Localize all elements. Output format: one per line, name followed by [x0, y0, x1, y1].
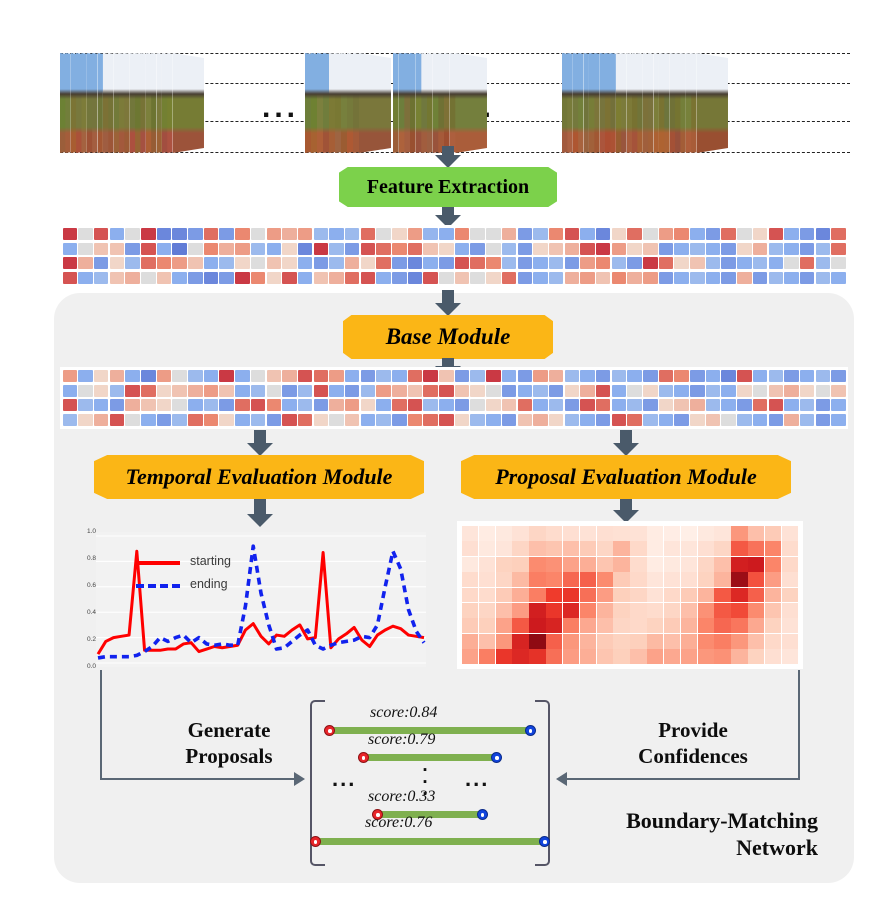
- feature-cell: [596, 228, 611, 240]
- feature-cell: [267, 370, 282, 382]
- heatmap-cell: [512, 618, 528, 633]
- proposal-evaluation-module-box[interactable]: Proposal Evaluation Module: [461, 455, 791, 499]
- feature-cell: [502, 257, 517, 269]
- feature-extraction-box[interactable]: Feature Extraction: [339, 167, 557, 207]
- feature-cell: [470, 228, 485, 240]
- feature-cell: [110, 385, 125, 397]
- boundary-chart-svg: [96, 532, 426, 667]
- heatmap-cell: [479, 541, 495, 556]
- input-video-clips: ... ... ...: [60, 45, 850, 160]
- feature-cell: [78, 257, 93, 269]
- feature-cell: [188, 370, 203, 382]
- feature-cell: [706, 399, 721, 411]
- feature-cell: [314, 414, 329, 426]
- feature-cell: [423, 385, 438, 397]
- feature-cell: [439, 272, 454, 284]
- heatmap-cell: [731, 603, 747, 618]
- feature-cell: [800, 243, 815, 255]
- arrow-featuremap-to-base-module: [435, 290, 461, 316]
- feature-cell: [141, 228, 156, 240]
- heatmap-cell: [647, 618, 663, 633]
- heatmap-cell: [496, 526, 512, 541]
- feature-cell: [376, 370, 391, 382]
- heatmap-cell: [613, 526, 629, 541]
- video-frame: [697, 53, 728, 153]
- heatmap-cell: [462, 541, 478, 556]
- feature-cell: [753, 257, 768, 269]
- heatmap-cell: [630, 618, 646, 633]
- heatmap-cell: [647, 634, 663, 649]
- feature-cell: [643, 414, 658, 426]
- feature-cell: [94, 243, 109, 255]
- feature-cell: [518, 385, 533, 397]
- heatmap-cell: [681, 649, 697, 664]
- feature-cell: [502, 385, 517, 397]
- feature-cell: [816, 243, 831, 255]
- feature-cell: [78, 399, 93, 411]
- feature-cell: [831, 385, 846, 397]
- legend-starting-swatch: [136, 561, 180, 565]
- proposal-end-dot-icon[interactable]: [539, 836, 550, 847]
- heatmap-cell: [782, 603, 798, 618]
- feature-cell: [486, 272, 501, 284]
- y-axis-tick: 0.0: [87, 664, 96, 671]
- feature-cell: [721, 385, 736, 397]
- feature-cell: [769, 272, 784, 284]
- feature-cell: [737, 414, 752, 426]
- feature-cell: [831, 370, 846, 382]
- heatmap-cell: [580, 634, 596, 649]
- connector-generate-proposals-arrowhead: [294, 772, 305, 786]
- feature-cell: [63, 228, 78, 240]
- feature-cell: [627, 257, 642, 269]
- proposal-end-dot-icon[interactable]: [525, 725, 536, 736]
- feature-cell: [533, 243, 548, 255]
- heatmap-cell: [714, 634, 730, 649]
- heatmap-cell: [479, 649, 495, 664]
- feature-cell: [800, 272, 815, 284]
- feature-cell: [580, 385, 595, 397]
- feature-cell: [706, 385, 721, 397]
- feature-cell: [141, 243, 156, 255]
- feature-cell: [612, 257, 627, 269]
- feature-cell: [408, 272, 423, 284]
- feature-cell: [831, 257, 846, 269]
- heatmap-cell: [765, 572, 781, 587]
- feature-cell: [596, 257, 611, 269]
- heatmap-cell: [597, 588, 613, 603]
- feature-cell: [470, 243, 485, 255]
- heatmap-cell: [613, 618, 629, 633]
- feature-cell: [549, 399, 564, 411]
- feature-cell: [486, 414, 501, 426]
- feature-cell: [612, 414, 627, 426]
- feature-cell: [784, 257, 799, 269]
- proposal-start-dot-icon[interactable]: [358, 752, 369, 763]
- proposal-score-4: score:0.76: [365, 814, 432, 832]
- feature-cell: [784, 272, 799, 284]
- feature-cell: [204, 257, 219, 269]
- feature-cell: [125, 228, 140, 240]
- feature-cell: [784, 243, 799, 255]
- feature-cell: [470, 414, 485, 426]
- feature-cell: [502, 228, 517, 240]
- feature-cell: [455, 228, 470, 240]
- feature-cell: [125, 399, 140, 411]
- heatmap-cell: [782, 541, 798, 556]
- heatmap-cell: [462, 588, 478, 603]
- feature-cell: [816, 257, 831, 269]
- heatmap-cell: [664, 603, 680, 618]
- connector-generate-proposals-line: [100, 778, 296, 780]
- feature-cell: [659, 399, 674, 411]
- feature-cell: [455, 385, 470, 397]
- heatmap-cell: [731, 588, 747, 603]
- feature-cell: [157, 385, 172, 397]
- network-name-caption: Boundary-Matching Network: [594, 808, 818, 862]
- feature-cell: [361, 370, 376, 382]
- heatmap-cell: [529, 634, 545, 649]
- feature-cell: [204, 243, 219, 255]
- heatmap-cell: [479, 603, 495, 618]
- feature-cell: [219, 370, 234, 382]
- feature-cell: [533, 228, 548, 240]
- generate-proposals-line2: Proposals: [144, 744, 314, 770]
- feature-cell: [549, 385, 564, 397]
- feature-cell: [706, 243, 721, 255]
- heatmap-cell: [664, 572, 680, 587]
- heatmap-cell: [698, 634, 714, 649]
- feature-cell: [800, 385, 815, 397]
- heatmap-cell: [563, 541, 579, 556]
- feature-cell: [627, 370, 642, 382]
- arrow-clips-to-feature-extraction: [435, 146, 461, 168]
- heatmap-cell: [613, 634, 629, 649]
- feature-cell: [831, 228, 846, 240]
- feature-cell: [219, 272, 234, 284]
- feature-cell: [282, 228, 297, 240]
- feature-cell: [518, 370, 533, 382]
- feature-cell: [831, 414, 846, 426]
- heatmap-cell: [496, 588, 512, 603]
- generate-proposals-caption: Generate Proposals: [144, 718, 314, 769]
- feature-cell: [329, 414, 344, 426]
- feature-cell: [596, 272, 611, 284]
- feature-cell: [643, 399, 658, 411]
- heatmap-cell: [782, 572, 798, 587]
- heatmap-cell: [731, 526, 747, 541]
- feature-cell: [345, 272, 360, 284]
- heatmap-cell: [630, 649, 646, 664]
- feature-cell: [518, 228, 533, 240]
- heatmap-cell: [748, 541, 764, 556]
- feature-cell: [188, 414, 203, 426]
- feature-cell: [455, 257, 470, 269]
- feature-cell: [580, 257, 595, 269]
- heatmap-cell: [714, 649, 730, 664]
- heatmap-cell: [580, 618, 596, 633]
- feature-cell: [141, 399, 156, 411]
- feature-cell: [753, 370, 768, 382]
- feature-cell: [110, 370, 125, 382]
- feature-cell: [188, 399, 203, 411]
- feature-cell: [643, 228, 658, 240]
- heatmap-cell: [698, 603, 714, 618]
- feature-cell: [376, 257, 391, 269]
- feature-cell: [110, 243, 125, 255]
- feature-cell: [769, 370, 784, 382]
- feature-cell: [376, 228, 391, 240]
- feature-cell: [267, 399, 282, 411]
- heatmap-cell: [681, 557, 697, 572]
- feature-cell: [235, 399, 250, 411]
- heatmap-cell: [529, 526, 545, 541]
- heatmap-cell: [613, 572, 629, 587]
- heatmap-cell: [479, 618, 495, 633]
- feature-cell: [94, 399, 109, 411]
- temporal-evaluation-module-box[interactable]: Temporal Evaluation Module: [94, 455, 424, 499]
- feature-cell: [423, 243, 438, 255]
- feature-cell: [345, 257, 360, 269]
- feature-cell: [251, 385, 266, 397]
- feature-cell: [329, 385, 344, 397]
- heatmap-cell: [613, 603, 629, 618]
- heatmap-cell: [613, 541, 629, 556]
- heatmap-cell: [563, 588, 579, 603]
- feature-cell: [392, 243, 407, 255]
- heatmap-cell: [529, 649, 545, 664]
- feature-cell: [110, 257, 125, 269]
- proposal-start-dot-icon[interactable]: [310, 836, 321, 847]
- proposal-start-dot-icon[interactable]: [324, 725, 335, 736]
- feature-cell: [267, 272, 282, 284]
- proposals-ellipsis-right: ...: [465, 768, 489, 790]
- heatmap-cell: [630, 588, 646, 603]
- feature-cell: [78, 370, 93, 382]
- feature-cell: [141, 414, 156, 426]
- feature-cell: [282, 385, 297, 397]
- feature-cell: [251, 414, 266, 426]
- feature-cell: [78, 228, 93, 240]
- feature-cell: [565, 257, 580, 269]
- feature-cell: [737, 370, 752, 382]
- video-frame: [359, 53, 391, 153]
- heatmap-cell: [748, 588, 764, 603]
- feature-cell: [674, 370, 689, 382]
- feature-cell: [188, 257, 203, 269]
- feature-cell: [816, 272, 831, 284]
- feature-cell: [251, 399, 266, 411]
- feature-cell: [706, 370, 721, 382]
- heatmap-cell: [731, 618, 747, 633]
- heatmap-cell: [496, 634, 512, 649]
- feature-cell: [63, 385, 78, 397]
- feature-cell: [423, 257, 438, 269]
- feature-cell: [784, 414, 799, 426]
- feature-cell: [172, 414, 187, 426]
- feature-cell: [486, 243, 501, 255]
- heatmap-cell: [748, 649, 764, 664]
- heatmap-cell: [462, 557, 478, 572]
- provide-confidences-caption: Provide Confidences: [598, 718, 788, 769]
- feature-cell: [753, 385, 768, 397]
- feature-cell: [329, 257, 344, 269]
- feature-cell: [219, 399, 234, 411]
- feature-cell: [157, 399, 172, 411]
- heatmap-cell: [681, 618, 697, 633]
- feature-cell: [110, 228, 125, 240]
- heatmap-cell: [647, 603, 663, 618]
- heatmap-cell: [462, 603, 478, 618]
- feature-cell: [549, 370, 564, 382]
- feature-cell: [565, 272, 580, 284]
- heatmap-cell: [714, 588, 730, 603]
- feature-cell: [565, 228, 580, 240]
- feature-cell: [721, 370, 736, 382]
- arrow-featuremap-to-temporal-evaluation: [247, 430, 273, 456]
- proposal-bar-4[interactable]: [310, 837, 550, 846]
- heatmap-cell: [597, 634, 613, 649]
- heatmap-cell: [681, 526, 697, 541]
- proposal-end-dot-icon[interactable]: [477, 809, 488, 820]
- heatmap-cell: [580, 649, 596, 664]
- feature-cell: [643, 243, 658, 255]
- feature-cell: [800, 414, 815, 426]
- feature-cell: [502, 399, 517, 411]
- heatmap-cell: [580, 572, 596, 587]
- feature-cell: [235, 370, 250, 382]
- feature-cell: [690, 399, 705, 411]
- feature-cell: [282, 414, 297, 426]
- feature-cell: [690, 228, 705, 240]
- feature-cell: [565, 399, 580, 411]
- feature-cell: [627, 228, 642, 240]
- clip-stack-1: [60, 45, 218, 160]
- feature-row: [62, 399, 846, 411]
- heatmap-cell: [580, 541, 596, 556]
- feature-cell: [219, 414, 234, 426]
- heatmap-cell: [698, 649, 714, 664]
- feature-cell: [376, 272, 391, 284]
- feature-cell: [125, 370, 140, 382]
- feature-cell: [627, 272, 642, 284]
- feature-cell: [361, 272, 376, 284]
- feature-cell: [251, 370, 266, 382]
- feature-row: [62, 272, 846, 284]
- feature-cell: [329, 370, 344, 382]
- feature-cell: [737, 399, 752, 411]
- feature-cell: [690, 272, 705, 284]
- heatmap-cell: [748, 572, 764, 587]
- feature-cell: [94, 385, 109, 397]
- proposals-ellipsis-left: ...: [332, 768, 356, 790]
- feature-cell: [831, 272, 846, 284]
- heatmap-cell: [698, 557, 714, 572]
- feature-cell: [549, 243, 564, 255]
- feature-cell: [439, 228, 454, 240]
- heatmap-cell: [664, 649, 680, 664]
- clip-stack-2: [305, 45, 405, 160]
- feature-cell: [455, 370, 470, 382]
- feature-cell: [345, 243, 360, 255]
- heatmap-cell: [563, 572, 579, 587]
- feature-cell: [63, 414, 78, 426]
- feature-cell: [219, 257, 234, 269]
- heatmap-cell: [563, 526, 579, 541]
- heatmap-cell: [630, 557, 646, 572]
- feature-cell: [219, 243, 234, 255]
- feature-cell: [188, 228, 203, 240]
- feature-cell: [816, 228, 831, 240]
- feature-cell: [110, 414, 125, 426]
- heatmap-cell: [630, 541, 646, 556]
- feature-cell: [188, 243, 203, 255]
- feature-cell: [63, 399, 78, 411]
- base-module-box[interactable]: Base Module: [343, 315, 553, 359]
- feature-cell: [408, 385, 423, 397]
- feature-cell: [784, 385, 799, 397]
- feature-cell: [172, 272, 187, 284]
- feature-cell: [674, 257, 689, 269]
- proposal-score-1: score:0.84: [370, 704, 437, 722]
- heatmap-cell: [597, 557, 613, 572]
- feature-cell: [204, 414, 219, 426]
- network-name-line1: Boundary-Matching: [594, 808, 818, 835]
- feature-cell: [329, 243, 344, 255]
- feature-cell: [753, 399, 768, 411]
- arrow-featuremap-to-proposal-evaluation: [613, 430, 639, 456]
- feature-cell: [486, 257, 501, 269]
- feature-row: [62, 243, 846, 255]
- feature-cell: [125, 257, 140, 269]
- feature-cell: [659, 370, 674, 382]
- feature-cell: [643, 370, 658, 382]
- heatmap-cell: [512, 526, 528, 541]
- feature-cell: [816, 370, 831, 382]
- legend-starting-label: starting: [190, 554, 231, 568]
- provide-confidences-line1: Provide: [598, 718, 788, 744]
- feature-cell: [643, 272, 658, 284]
- heatmap-cell: [597, 526, 613, 541]
- feature-cell: [110, 272, 125, 284]
- heatmap-cell: [698, 588, 714, 603]
- feature-cell: [408, 370, 423, 382]
- feature-cell: [376, 385, 391, 397]
- feature-row: [62, 257, 846, 269]
- feature-cell: [439, 243, 454, 255]
- feature-cell: [392, 399, 407, 411]
- feature-cell: [267, 385, 282, 397]
- feature-cell: [63, 257, 78, 269]
- heatmap-cell: [597, 618, 613, 633]
- feature-cell: [769, 228, 784, 240]
- feature-cell: [439, 385, 454, 397]
- feature-cell: [157, 272, 172, 284]
- feature-cell: [94, 228, 109, 240]
- feature-cell: [627, 385, 642, 397]
- feature-cell: [690, 370, 705, 382]
- chart-series-starting: [98, 551, 424, 654]
- proposal-end-dot-icon[interactable]: [491, 752, 502, 763]
- feature-cell: [235, 257, 250, 269]
- heatmap-cell: [496, 618, 512, 633]
- heatmap-cell: [630, 526, 646, 541]
- heatmap-cell: [630, 634, 646, 649]
- heatmap-cell: [782, 649, 798, 664]
- provide-confidences-line2: Confidences: [598, 744, 788, 770]
- heatmap-cell: [664, 557, 680, 572]
- feature-cell: [721, 228, 736, 240]
